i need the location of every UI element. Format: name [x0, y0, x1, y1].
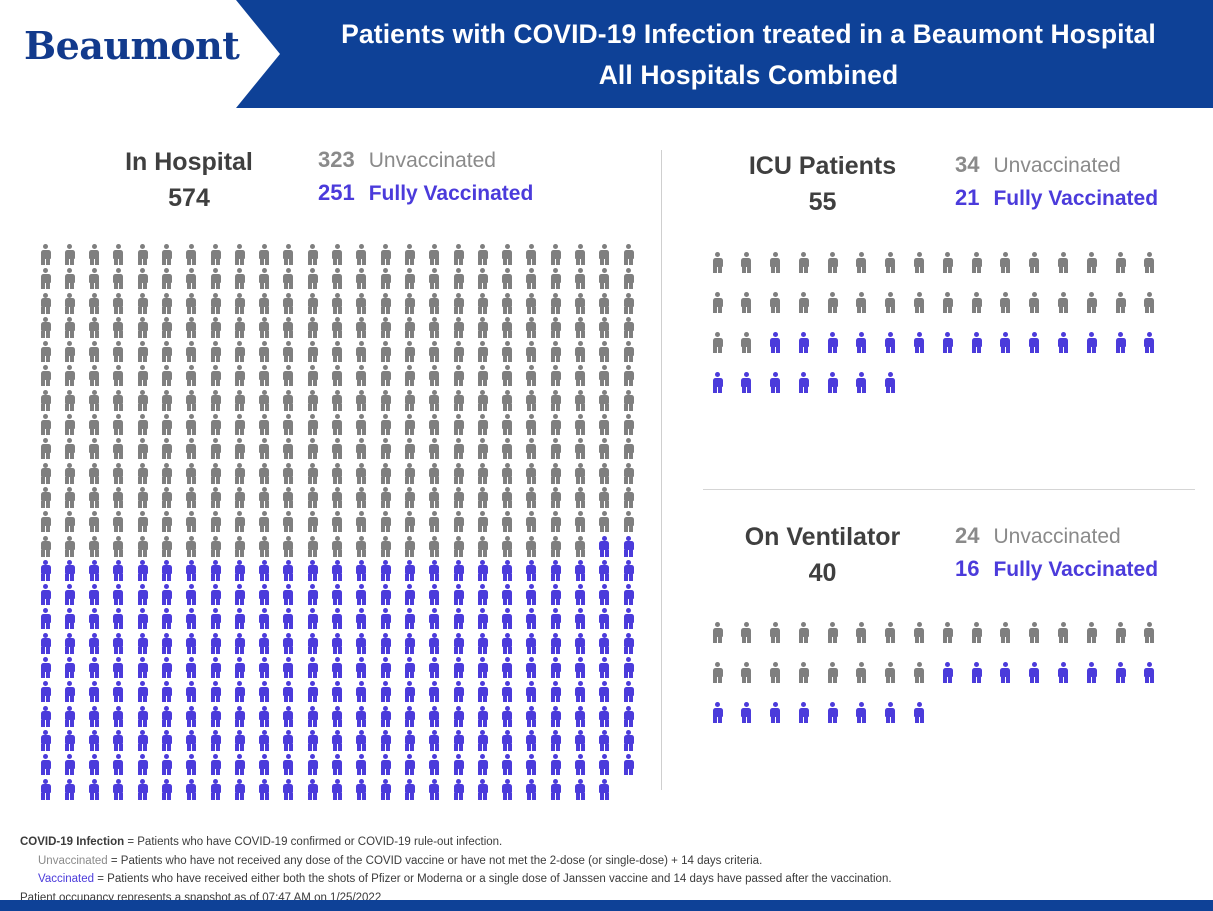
- person-icon-vaccinated: [623, 633, 634, 654]
- person-icon-vaccinated: [599, 584, 610, 605]
- person-icon-vaccinated: [526, 657, 537, 678]
- person-icon-unvaccinated: [186, 365, 197, 386]
- icu-vaccinated-count: 21: [955, 184, 979, 213]
- person-icon-unvaccinated: [575, 487, 586, 508]
- person-icon-unvaccinated: [914, 622, 925, 643]
- person-icon-vaccinated: [234, 633, 245, 654]
- person-icon-unvaccinated: [856, 292, 867, 313]
- person-icon-unvaccinated: [40, 463, 51, 484]
- person-icon-vaccinated: [575, 754, 586, 775]
- person-icon-unvaccinated: [1000, 622, 1011, 643]
- person-icon-vaccinated: [64, 560, 75, 581]
- person-icon-unvaccinated: [453, 463, 464, 484]
- person-icon-unvaccinated: [186, 463, 197, 484]
- person-icon-unvaccinated: [259, 390, 270, 411]
- person-icon-unvaccinated: [234, 536, 245, 557]
- person-icon-vaccinated: [161, 706, 172, 727]
- person-icon-unvaccinated: [161, 293, 172, 314]
- person-icon-vaccinated: [40, 779, 51, 800]
- person-icon-unvaccinated: [798, 292, 809, 313]
- person-icon-vaccinated: [161, 584, 172, 605]
- in-hospital-metric-name: In Hospital: [60, 144, 318, 180]
- person-icon-vaccinated: [1029, 332, 1040, 353]
- person-icon-vaccinated: [623, 706, 634, 727]
- person-icon-vaccinated: [1115, 332, 1126, 353]
- person-icon-unvaccinated: [550, 244, 561, 265]
- person-icon-unvaccinated: [1115, 622, 1126, 643]
- person-icon-vaccinated: [161, 608, 172, 629]
- person-icon-unvaccinated: [234, 414, 245, 435]
- person-icon-unvaccinated: [283, 317, 294, 338]
- person-icon-vaccinated: [477, 730, 488, 751]
- person-icon-vaccinated: [453, 633, 464, 654]
- icu-unvaccinated-label: Unvaccinated: [993, 152, 1158, 179]
- person-icon-vaccinated: [1086, 332, 1097, 353]
- person-icon-vaccinated: [429, 681, 440, 702]
- person-icon-unvaccinated: [113, 536, 124, 557]
- person-icon-unvaccinated: [741, 332, 752, 353]
- person-icon-unvaccinated: [380, 463, 391, 484]
- person-icon-vaccinated: [1000, 662, 1011, 683]
- footnote-term-unvaccinated: Unvaccinated: [38, 855, 108, 867]
- ventilator-vaccinated-count: 16: [955, 555, 979, 584]
- person-icon-vaccinated: [550, 730, 561, 751]
- person-icon-vaccinated: [404, 754, 415, 775]
- person-icon-vaccinated: [1058, 662, 1069, 683]
- person-icon-unvaccinated: [113, 341, 124, 362]
- person-icon-vaccinated: [161, 779, 172, 800]
- person-icon-unvaccinated: [885, 252, 896, 273]
- person-icon-vaccinated: [404, 779, 415, 800]
- person-icon-unvaccinated: [356, 511, 367, 532]
- person-icon-vaccinated: [550, 657, 561, 678]
- person-icon-vaccinated: [550, 560, 561, 581]
- person-icon-unvaccinated: [210, 244, 221, 265]
- person-icon-unvaccinated: [453, 414, 464, 435]
- ventilator-legend: 24 Unvaccinated 16 Fully Vaccinated: [955, 522, 1158, 583]
- person-icon-unvaccinated: [307, 293, 318, 314]
- person-icon-unvaccinated: [914, 292, 925, 313]
- person-icon-vaccinated: [380, 681, 391, 702]
- person-icon-vaccinated: [89, 730, 100, 751]
- person-icon-unvaccinated: [599, 293, 610, 314]
- person-icon-vaccinated: [599, 730, 610, 751]
- person-icon-unvaccinated: [210, 390, 221, 411]
- person-icon-unvaccinated: [234, 438, 245, 459]
- person-icon-vaccinated: [623, 730, 634, 751]
- person-icon-unvaccinated: [259, 536, 270, 557]
- person-icon-unvaccinated: [712, 292, 723, 313]
- person-icon-unvaccinated: [332, 487, 343, 508]
- person-icon-unvaccinated: [64, 293, 75, 314]
- person-icon-unvaccinated: [380, 268, 391, 289]
- person-icon-unvaccinated: [356, 268, 367, 289]
- person-icon-unvaccinated: [599, 438, 610, 459]
- person-icon-unvaccinated: [259, 317, 270, 338]
- person-icon-unvaccinated: [599, 244, 610, 265]
- person-icon-unvaccinated: [477, 268, 488, 289]
- person-icon-unvaccinated: [1086, 622, 1097, 643]
- person-icon-unvaccinated: [259, 341, 270, 362]
- person-icon-vaccinated: [64, 657, 75, 678]
- person-icon-vaccinated: [971, 332, 982, 353]
- person-icon-vaccinated: [113, 584, 124, 605]
- person-icon-unvaccinated: [623, 317, 634, 338]
- person-icon-unvaccinated: [40, 390, 51, 411]
- person-icon-unvaccinated: [526, 268, 537, 289]
- footer-bar: [0, 900, 1213, 911]
- person-icon-unvaccinated: [550, 268, 561, 289]
- person-icon-unvaccinated: [356, 244, 367, 265]
- person-icon-vaccinated: [380, 779, 391, 800]
- person-icon-unvaccinated: [575, 293, 586, 314]
- person-icon-vaccinated: [599, 633, 610, 654]
- person-icon-vaccinated: [64, 608, 75, 629]
- person-icon-vaccinated: [332, 633, 343, 654]
- person-icon-vaccinated: [234, 608, 245, 629]
- person-icon-unvaccinated: [259, 293, 270, 314]
- person-icon-unvaccinated: [429, 365, 440, 386]
- person-icon-vaccinated: [234, 560, 245, 581]
- person-icon-unvaccinated: [186, 293, 197, 314]
- person-icon-unvaccinated: [283, 536, 294, 557]
- person-icon-vaccinated: [380, 706, 391, 727]
- in-hospital-vaccinated-count: 251: [318, 179, 355, 208]
- person-icon-unvaccinated: [429, 536, 440, 557]
- person-icon-unvaccinated: [453, 268, 464, 289]
- person-icon-vaccinated: [307, 779, 318, 800]
- person-icon-unvaccinated: [502, 341, 513, 362]
- in-hospital-unvaccinated-label: Unvaccinated: [369, 147, 534, 174]
- person-icon-unvaccinated: [885, 622, 896, 643]
- person-icon-unvaccinated: [712, 622, 723, 643]
- person-icon-unvaccinated: [575, 511, 586, 532]
- person-icon-unvaccinated: [259, 268, 270, 289]
- person-icon-unvaccinated: [770, 662, 781, 683]
- person-icon-vaccinated: [210, 706, 221, 727]
- person-icon-unvaccinated: [502, 438, 513, 459]
- person-icon-unvaccinated: [971, 622, 982, 643]
- person-icon-unvaccinated: [210, 438, 221, 459]
- person-icon-unvaccinated: [380, 293, 391, 314]
- person-icon-unvaccinated: [210, 536, 221, 557]
- person-icon-unvaccinated: [259, 438, 270, 459]
- person-icon-unvaccinated: [89, 511, 100, 532]
- person-icon-unvaccinated: [234, 317, 245, 338]
- person-icon-unvaccinated: [89, 414, 100, 435]
- person-icon-unvaccinated: [575, 463, 586, 484]
- person-icon-unvaccinated: [283, 414, 294, 435]
- person-icon-unvaccinated: [477, 463, 488, 484]
- person-icon-vaccinated: [186, 730, 197, 751]
- person-icon-unvaccinated: [477, 293, 488, 314]
- person-icon-unvaccinated: [307, 244, 318, 265]
- in-hospital-heading: In Hospital 574: [60, 144, 318, 217]
- person-icon-unvaccinated: [89, 341, 100, 362]
- person-icon-vaccinated: [380, 657, 391, 678]
- person-icon-vaccinated: [234, 730, 245, 751]
- person-icon-vaccinated: [477, 681, 488, 702]
- person-icon-unvaccinated: [186, 511, 197, 532]
- person-icon-vaccinated: [307, 706, 318, 727]
- person-icon-unvaccinated: [356, 536, 367, 557]
- person-icon-vaccinated: [40, 633, 51, 654]
- person-icon-unvaccinated: [307, 365, 318, 386]
- footnotes: COVID-19 Infection = Patients who have C…: [20, 833, 1195, 908]
- person-icon-unvaccinated: [332, 365, 343, 386]
- person-icon-vaccinated: [380, 584, 391, 605]
- person-icon-unvaccinated: [137, 365, 148, 386]
- person-icon-unvaccinated: [259, 365, 270, 386]
- person-icon-vaccinated: [186, 706, 197, 727]
- person-icon-unvaccinated: [307, 438, 318, 459]
- person-icon-unvaccinated: [283, 390, 294, 411]
- person-icon-vaccinated: [259, 633, 270, 654]
- person-icon-unvaccinated: [1144, 252, 1155, 273]
- person-icon-vaccinated: [502, 730, 513, 751]
- person-icon-vaccinated: [885, 332, 896, 353]
- person-icon-unvaccinated: [741, 662, 752, 683]
- person-icon-unvaccinated: [798, 252, 809, 273]
- person-icon-vaccinated: [770, 332, 781, 353]
- person-icon-vaccinated: [113, 730, 124, 751]
- person-icon-unvaccinated: [210, 268, 221, 289]
- person-icon-vaccinated: [356, 754, 367, 775]
- person-icon-unvaccinated: [210, 317, 221, 338]
- person-icon-unvaccinated: [380, 487, 391, 508]
- person-icon-unvaccinated: [575, 341, 586, 362]
- person-icon-vaccinated: [502, 560, 513, 581]
- person-icon-unvaccinated: [942, 622, 953, 643]
- person-icon-unvaccinated: [283, 463, 294, 484]
- person-icon-vaccinated: [234, 779, 245, 800]
- person-icon-unvaccinated: [161, 414, 172, 435]
- person-icon-vaccinated: [526, 706, 537, 727]
- person-icon-vaccinated: [453, 608, 464, 629]
- person-icon-unvaccinated: [623, 511, 634, 532]
- person-icon-vaccinated: [307, 730, 318, 751]
- person-icon-unvaccinated: [161, 511, 172, 532]
- person-icon-vaccinated: [623, 584, 634, 605]
- person-icon-vaccinated: [113, 754, 124, 775]
- person-icon-unvaccinated: [502, 511, 513, 532]
- person-icon-vaccinated: [599, 706, 610, 727]
- person-icon-vaccinated: [356, 608, 367, 629]
- person-icon-vaccinated: [186, 633, 197, 654]
- person-icon-vaccinated: [1029, 662, 1040, 683]
- person-icon-unvaccinated: [283, 268, 294, 289]
- person-icon-unvaccinated: [210, 511, 221, 532]
- person-icon-unvaccinated: [380, 414, 391, 435]
- person-icon-unvaccinated: [1086, 252, 1097, 273]
- person-icon-vaccinated: [40, 584, 51, 605]
- footnote-term-vaccinated: Vaccinated: [38, 873, 94, 885]
- person-icon-vaccinated: [332, 681, 343, 702]
- page-title-line-2: All Hospitals Combined: [290, 55, 1207, 96]
- person-icon-unvaccinated: [259, 244, 270, 265]
- person-icon-vaccinated: [137, 681, 148, 702]
- person-icon-unvaccinated: [477, 511, 488, 532]
- person-icon-vaccinated: [356, 779, 367, 800]
- person-icon-unvaccinated: [623, 390, 634, 411]
- person-icon-vaccinated: [332, 657, 343, 678]
- person-icon-vaccinated: [550, 584, 561, 605]
- person-icon-vaccinated: [502, 657, 513, 678]
- person-icon-unvaccinated: [477, 317, 488, 338]
- person-icon-unvaccinated: [1086, 292, 1097, 313]
- person-icon-unvaccinated: [429, 390, 440, 411]
- person-icon-unvaccinated: [550, 317, 561, 338]
- person-icon-unvaccinated: [161, 268, 172, 289]
- person-icon-vaccinated: [477, 657, 488, 678]
- person-icon-vaccinated: [40, 754, 51, 775]
- person-icon-unvaccinated: [453, 511, 464, 532]
- in-hospital-metric-total: 574: [60, 180, 318, 216]
- person-icon-unvaccinated: [210, 341, 221, 362]
- person-icon-unvaccinated: [623, 463, 634, 484]
- person-icon-unvaccinated: [623, 487, 634, 508]
- person-icon-unvaccinated: [453, 438, 464, 459]
- person-icon-vaccinated: [599, 536, 610, 557]
- ventilator-unvaccinated-label: Unvaccinated: [993, 523, 1158, 550]
- person-icon-unvaccinated: [477, 341, 488, 362]
- in-hospital-legend: 323 Unvaccinated 251 Fully Vaccinated: [318, 146, 533, 207]
- person-icon-unvaccinated: [971, 252, 982, 273]
- person-icon-unvaccinated: [550, 487, 561, 508]
- person-icon-vaccinated: [89, 560, 100, 581]
- person-icon-vaccinated: [64, 681, 75, 702]
- person-icon-unvaccinated: [234, 244, 245, 265]
- person-icon-unvaccinated: [332, 268, 343, 289]
- person-icon-vaccinated: [89, 608, 100, 629]
- person-icon-vaccinated: [356, 633, 367, 654]
- person-icon-unvaccinated: [161, 341, 172, 362]
- footnote-line-2: Unvaccinated = Patients who have not rec…: [20, 852, 1195, 871]
- person-icon-unvaccinated: [770, 252, 781, 273]
- person-icon-vaccinated: [210, 584, 221, 605]
- person-icon-vaccinated: [502, 681, 513, 702]
- person-icon-unvaccinated: [599, 268, 610, 289]
- person-icon-vaccinated: [234, 657, 245, 678]
- person-icon-unvaccinated: [550, 341, 561, 362]
- person-icon-unvaccinated: [550, 438, 561, 459]
- person-icon-unvaccinated: [453, 244, 464, 265]
- person-icon-unvaccinated: [477, 438, 488, 459]
- person-icon-unvaccinated: [404, 268, 415, 289]
- person-icon-unvaccinated: [575, 244, 586, 265]
- person-icon-unvaccinated: [89, 463, 100, 484]
- person-icon-unvaccinated: [137, 244, 148, 265]
- person-icon-unvaccinated: [113, 293, 124, 314]
- person-icon-unvaccinated: [1029, 622, 1040, 643]
- person-icon-unvaccinated: [550, 536, 561, 557]
- person-icon-unvaccinated: [914, 662, 925, 683]
- person-icon-unvaccinated: [356, 317, 367, 338]
- person-icon-unvaccinated: [137, 268, 148, 289]
- person-icon-unvaccinated: [137, 536, 148, 557]
- person-icon-unvaccinated: [356, 390, 367, 411]
- person-icon-unvaccinated: [64, 317, 75, 338]
- person-icon-unvaccinated: [599, 463, 610, 484]
- person-icon-vaccinated: [575, 779, 586, 800]
- person-icon-vaccinated: [526, 584, 537, 605]
- person-icon-unvaccinated: [307, 536, 318, 557]
- person-icon-vaccinated: [914, 702, 925, 723]
- person-icon-unvaccinated: [113, 511, 124, 532]
- person-icon-vaccinated: [429, 560, 440, 581]
- person-icon-vaccinated: [380, 754, 391, 775]
- person-icon-unvaccinated: [234, 341, 245, 362]
- person-icon-unvaccinated: [186, 390, 197, 411]
- person-icon-vaccinated: [283, 633, 294, 654]
- person-icon-vaccinated: [404, 657, 415, 678]
- person-icon-vaccinated: [113, 608, 124, 629]
- person-icon-unvaccinated: [599, 390, 610, 411]
- person-icon-vaccinated: [283, 681, 294, 702]
- person-icon-unvaccinated: [186, 536, 197, 557]
- person-icon-vaccinated: [113, 706, 124, 727]
- in-hospital-vaccinated-label: Fully Vaccinated: [369, 180, 534, 207]
- person-icon-unvaccinated: [798, 622, 809, 643]
- person-icon-vaccinated: [550, 681, 561, 702]
- person-icon-unvaccinated: [477, 487, 488, 508]
- person-icon-vaccinated: [856, 332, 867, 353]
- person-icon-vaccinated: [186, 584, 197, 605]
- person-icon-unvaccinated: [137, 293, 148, 314]
- person-icon-vaccinated: [453, 560, 464, 581]
- person-icon-vaccinated: [712, 702, 723, 723]
- person-icon-vaccinated: [137, 754, 148, 775]
- person-icon-vaccinated: [798, 332, 809, 353]
- person-icon-unvaccinated: [914, 252, 925, 273]
- person-icon-unvaccinated: [40, 414, 51, 435]
- person-icon-vaccinated: [1000, 332, 1011, 353]
- person-icon-unvaccinated: [380, 438, 391, 459]
- person-icon-unvaccinated: [404, 341, 415, 362]
- person-icon-vaccinated: [1115, 662, 1126, 683]
- person-icon-vaccinated: [283, 560, 294, 581]
- person-icon-unvaccinated: [64, 268, 75, 289]
- person-icon-vaccinated: [453, 584, 464, 605]
- person-icon-unvaccinated: [502, 268, 513, 289]
- person-icon-unvaccinated: [64, 463, 75, 484]
- person-icon-vaccinated: [259, 608, 270, 629]
- person-icon-vaccinated: [623, 536, 634, 557]
- person-icon-vaccinated: [161, 681, 172, 702]
- person-icon-vaccinated: [283, 657, 294, 678]
- person-icon-vaccinated: [942, 332, 953, 353]
- ventilator-heading: On Ventilator 40: [700, 519, 945, 592]
- person-icon-unvaccinated: [137, 414, 148, 435]
- person-icon-vaccinated: [827, 702, 838, 723]
- person-icon-vaccinated: [137, 779, 148, 800]
- person-icon-unvaccinated: [161, 365, 172, 386]
- person-icon-unvaccinated: [623, 365, 634, 386]
- person-icon-vaccinated: [356, 584, 367, 605]
- person-icon-unvaccinated: [741, 292, 752, 313]
- person-icon-vaccinated: [404, 608, 415, 629]
- person-icon-unvaccinated: [64, 341, 75, 362]
- person-icon-unvaccinated: [827, 252, 838, 273]
- person-icon-vaccinated: [477, 584, 488, 605]
- person-icon-vaccinated: [453, 730, 464, 751]
- person-icon-unvaccinated: [404, 390, 415, 411]
- person-icon-unvaccinated: [259, 463, 270, 484]
- person-icon-vaccinated: [575, 633, 586, 654]
- person-icon-vaccinated: [885, 702, 896, 723]
- person-icon-vaccinated: [259, 779, 270, 800]
- person-icon-vaccinated: [332, 730, 343, 751]
